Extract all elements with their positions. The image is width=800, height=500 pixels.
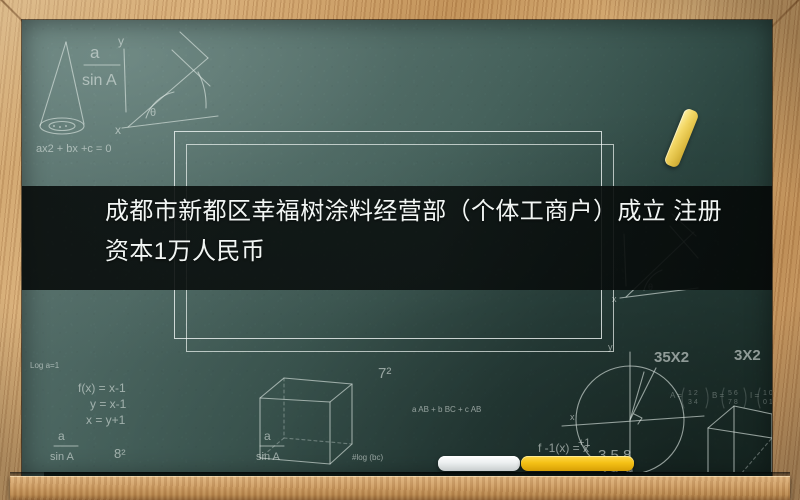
product-35x2-text: 35X2 xyxy=(654,349,689,366)
decorative-rectangle-inner xyxy=(186,144,614,352)
svg-text:I =: I = xyxy=(750,391,759,400)
caption-overlay-band xyxy=(22,186,772,290)
diagonal-chalk-stick[interactable] xyxy=(663,107,699,168)
svg-text:x: x xyxy=(115,123,121,137)
inverse-function-text: f -1(x) = x xyxy=(538,441,589,455)
chalkboard: a sin A ax2 + bx +c = 0 y x xyxy=(22,20,772,478)
chalk-drawings: a sin A ax2 + bx +c = 0 y x xyxy=(22,20,772,478)
svg-text:x = y+1: x = y+1 xyxy=(86,413,126,427)
law-of-sines-fraction-bottom-left: a sin A 8² xyxy=(50,429,126,463)
svg-text:a: a xyxy=(264,429,271,443)
law-of-sines-fraction-top: a sin A xyxy=(82,43,120,89)
cone-drawing xyxy=(40,42,84,134)
svg-text:sin A: sin A xyxy=(256,451,281,463)
svg-text:sin A: sin A xyxy=(82,72,117,89)
exponent-7-squared-text: 7² xyxy=(378,365,391,382)
quadratic-equation-text: ax2 + bx +c = 0 xyxy=(36,143,112,155)
svg-text:3 4: 3 4 xyxy=(688,399,698,406)
svg-text:5 6: 5 6 xyxy=(728,390,738,397)
svg-text:θ: θ xyxy=(150,107,156,119)
decorative-rectangle-outer xyxy=(174,131,602,339)
svg-text:y = x-1: y = x-1 xyxy=(90,397,127,411)
white-chalk-stick[interactable] xyxy=(438,456,520,471)
product-3x2-text: 3X2 xyxy=(734,347,761,364)
svg-text:a: a xyxy=(58,429,65,443)
log-note-text: Log a=1 xyxy=(30,361,60,370)
angle-diagram-left: y x θ xyxy=(115,32,218,137)
angle-diagram-right: x θ xyxy=(612,214,698,304)
svg-text:1 2: 1 2 xyxy=(688,390,698,397)
svg-text:a: a xyxy=(90,43,100,62)
chalkboard-surface: a sin A ax2 + bx +c = 0 y x xyxy=(22,20,772,478)
svg-text:8²: 8² xyxy=(114,446,126,461)
svg-text:A =: A = xyxy=(670,391,682,400)
matrices-row: A = 1 2 3 4 B = 5 6 7 8 I = 1 0 0 1 xyxy=(670,388,772,408)
function-definitions: f(x) = x-1 y = x-1 x = y+1 xyxy=(78,381,127,427)
svg-text:y: y xyxy=(118,34,124,48)
svg-text:f(x) = x-1: f(x) = x-1 xyxy=(78,381,126,395)
vector-equation-text: a AB + b BC + c AB xyxy=(412,405,481,414)
svg-text:y: y xyxy=(608,342,613,352)
log-bc-text: #log (bc) xyxy=(352,453,383,462)
svg-text:1 0: 1 0 xyxy=(763,390,772,397)
svg-text:0 1: 0 1 xyxy=(763,399,772,406)
cube-center xyxy=(260,378,352,464)
svg-text:+1: +1 xyxy=(578,437,591,449)
svg-text:x: x xyxy=(570,412,575,422)
svg-text:θ: θ xyxy=(648,282,653,292)
svg-text:7 8: 7 8 xyxy=(728,399,738,406)
yellow-chalk-stick[interactable] xyxy=(521,456,634,471)
svg-text:sin A: sin A xyxy=(50,451,75,463)
wooden-ledge xyxy=(10,476,790,500)
screenshot-root: a sin A ax2 + bx +c = 0 y x xyxy=(0,0,800,500)
law-of-sines-fraction-bottom-center: a sin A xyxy=(256,429,284,463)
cube-right xyxy=(708,406,772,478)
caption-text: 成都市新都区幸福树涂料经营部（个体工商户）成立 注册资本1万人民币 xyxy=(105,192,745,272)
svg-text:B =: B = xyxy=(712,391,725,400)
svg-text:x: x xyxy=(612,294,617,304)
